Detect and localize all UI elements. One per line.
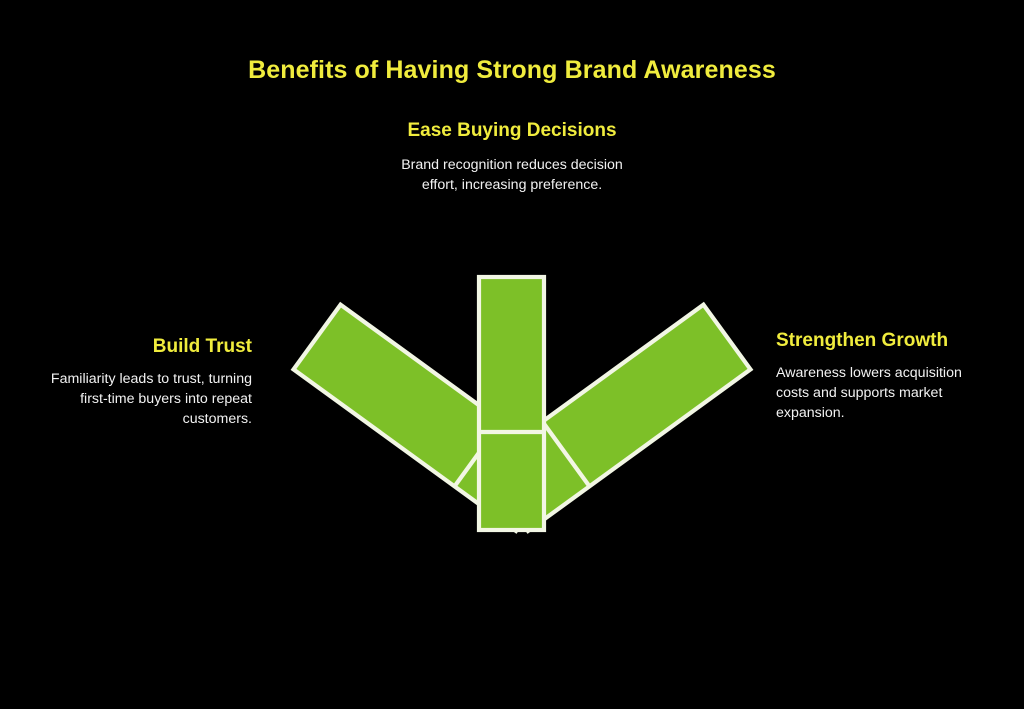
benefit-heading-build-trust: Build Trust <box>30 334 252 360</box>
center-arm-bar <box>479 277 544 530</box>
benefit-block-strengthen-growth: Strengthen Growth Awareness lowers acqui… <box>776 328 991 423</box>
benefit-block-build-trust: Build Trust Familiarity leads to trust, … <box>30 334 252 429</box>
infographic-canvas: Benefits of Having Strong Brand Awarenes… <box>0 0 1024 709</box>
benefit-body-strengthen-growth: Awareness lowers acquisition costs and s… <box>776 363 991 423</box>
benefit-heading-ease-buying-decisions: Ease Buying Decisions <box>387 118 637 144</box>
benefit-body-build-trust: Familiarity leads to trust, turning firs… <box>30 369 252 429</box>
benefit-heading-strengthen-growth: Strengthen Growth <box>776 328 991 354</box>
benefit-body-ease-buying-decisions: Brand recognition reduces decision effor… <box>387 155 637 195</box>
benefit-block-ease-buying-decisions: Ease Buying Decisions Brand recognition … <box>387 118 637 195</box>
